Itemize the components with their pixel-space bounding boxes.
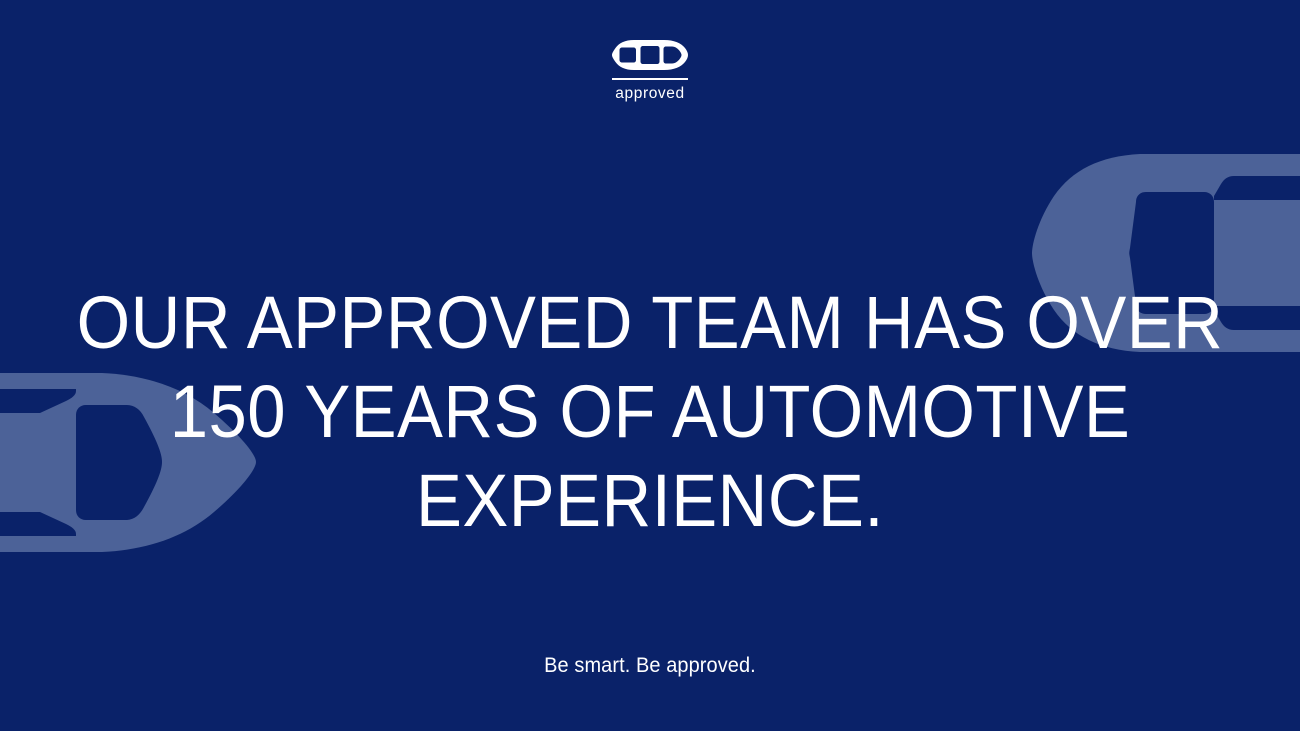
headline-line-1: OUR APPROVED TEAM HAS OVER bbox=[46, 278, 1255, 367]
headline: OUR APPROVED TEAM HAS OVER 150 YEARS OF … bbox=[46, 278, 1255, 545]
logo-divider bbox=[612, 78, 688, 80]
headline-line-3: EXPERIENCE. bbox=[46, 456, 1255, 545]
logo-wordmark: approved bbox=[615, 86, 684, 102]
headline-line-2: 150 YEARS OF AUTOMOTIVE bbox=[46, 367, 1255, 456]
approved-car-logo-icon bbox=[612, 39, 688, 71]
tagline: Be smart. Be approved. bbox=[33, 655, 1268, 676]
brand-logo: approved bbox=[0, 39, 1300, 102]
marketing-slide: approved OUR APPROVED TEAM HAS OVER 150 … bbox=[0, 0, 1300, 731]
